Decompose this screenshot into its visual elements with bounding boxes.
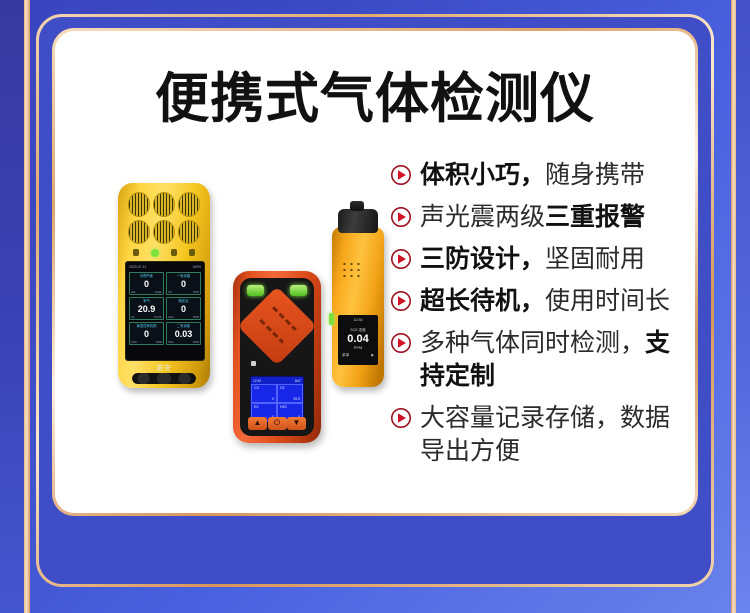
sensor-indicator-icon [251, 361, 256, 366]
feature-list: 体积小巧，随身携带 声光震两级三重报警 三防 [390, 159, 690, 477]
poster-root: 便携式气体检测仪 [0, 0, 750, 613]
gas-reading-cell: 二氧化硫 0.03 SO2 PPM [166, 322, 201, 345]
sensor-grille-icon [128, 220, 150, 245]
gas-symbol: LEL [131, 290, 136, 294]
sensor-grille-icon [128, 192, 150, 217]
diamond-sensor-vent-icon [240, 286, 314, 365]
circle-arrow-icon [390, 290, 412, 312]
list-item: 超长待机，使用时间长 [390, 285, 690, 318]
gas-symbol: VOC [131, 340, 137, 344]
list-item: 多种气体同时检测，支持定制 [390, 327, 690, 393]
gas-reading-cell: 硫化氢 0 H2S PPM [166, 297, 201, 320]
screen-time: 12:30 [338, 318, 378, 322]
right-gold-line [731, 0, 736, 613]
power-led-icon [151, 249, 159, 257]
right-alarm-led-icon [290, 285, 307, 296]
gas-value: 0 [167, 304, 200, 314]
status-battery: BAT [295, 379, 301, 383]
next-arrow-icon: ▶ [371, 353, 374, 358]
alarm-speaker-grille [132, 373, 196, 384]
screen-value: 0.04 [338, 333, 378, 345]
left-blue-band [0, 0, 24, 613]
down-button[interactable]: ▼ [287, 417, 306, 430]
sensor-grille-group [128, 192, 200, 244]
sensor-grille-icon [178, 220, 200, 245]
gas-name: CO [254, 386, 259, 390]
list-item-label: 体积小巧，随身携带 [420, 159, 645, 192]
gas-value: 20.9 [293, 397, 300, 401]
yellow-detector-screen: 2023-07-12 100% 可燃气体 0 LEL %LEL 一氧化碳 0 [125, 261, 205, 361]
orange-gas-detector: 12:30 SO2 浓度 0.04 PPM 菜单 ▶ [332, 227, 384, 387]
gas-unit: PPM [193, 315, 199, 319]
gas-symbol: SO2 [168, 340, 174, 344]
right-blue-band [736, 0, 750, 613]
indicator-led-row [127, 247, 201, 258]
red-detector-buttons: ▲ ⏻ ▼ [248, 416, 306, 430]
left-alarm-led-icon [247, 285, 264, 296]
list-item-label: 大容量记录存储，数据导出方便 [420, 402, 690, 468]
gas-reading-cell: 一氧化碳 0 CO PPM [166, 272, 201, 295]
screen-footer: 菜单 ▶ [338, 350, 378, 358]
status-battery: 100% [192, 265, 201, 269]
power-button[interactable]: ⏻ [268, 417, 287, 430]
sensor-grille-icon [153, 220, 175, 245]
up-button[interactable]: ▲ [248, 417, 267, 430]
circle-arrow-icon [390, 332, 412, 354]
list-item: 声光震两级三重报警 [390, 201, 690, 234]
orange-detector-screen: 12:30 SO2 浓度 0.04 PPM 菜单 ▶ [338, 315, 378, 365]
left-gold-line [24, 0, 30, 613]
list-item: 体积小巧，随身携带 [390, 159, 690, 192]
brand-logo: 诺安 [118, 363, 210, 373]
red-gas-detector: 12:30 BAT CO 0 O2 20.9 [233, 271, 321, 443]
list-item: 大容量记录存储，数据导出方便 [390, 402, 690, 468]
pump-led-icon [189, 249, 195, 256]
gas-value: 0 [130, 329, 163, 339]
circle-arrow-icon [390, 248, 412, 270]
status-time: 12:30 [253, 379, 261, 383]
sensor-cap-icon [338, 209, 378, 233]
gas-unit: PPM [156, 340, 162, 344]
gas-reading-cell: O2 20.9 [277, 384, 303, 403]
circle-arrow-icon [390, 164, 412, 186]
gas-reading-cell: 可燃气体 0 LEL %LEL [129, 272, 164, 295]
gas-reading-cell: 挥发性有机物 0 VOC PPM [129, 322, 164, 345]
gas-unit: PPM [193, 340, 199, 344]
gas-unit: PPM [193, 290, 199, 294]
gas-value: 0 [272, 397, 274, 401]
screen-status-bar: 2023-07-12 100% [126, 262, 204, 271]
gas-unit: %VOL [154, 315, 162, 319]
menu-label: 菜单 [342, 353, 349, 358]
gas-symbol: H2S [168, 315, 173, 319]
status-time: 2023-07-12 [129, 265, 146, 269]
red-detector-face: 12:30 BAT CO 0 O2 20.9 [240, 278, 314, 436]
gas-value: 20.9 [130, 304, 163, 314]
gas-reading-grid: 可燃气体 0 LEL %LEL 一氧化碳 0 CO PPM 氧气 [129, 272, 201, 345]
gas-name: O2 [280, 386, 285, 390]
gas-symbol: CO [168, 290, 172, 294]
side-alarm-led-icon [329, 313, 334, 325]
yellow-gas-detector: 2023-07-12 100% 可燃气体 0 LEL %LEL 一氧化碳 0 [118, 183, 210, 388]
gas-reading-cell: CO 0 [251, 384, 277, 403]
gas-name: EX [254, 405, 259, 409]
gas-symbol: O2 [131, 315, 135, 319]
list-item-label: 三防设计，坚固耐用 [420, 243, 645, 276]
product-images: 2023-07-12 100% 可燃气体 0 LEL %LEL 一氧化碳 0 [55, 31, 395, 519]
gas-unit: %LEL [155, 290, 162, 294]
gas-value: 0 [167, 279, 200, 289]
circle-arrow-icon [390, 407, 412, 429]
gas-value: 0.03 [167, 329, 200, 339]
charge-led-icon [133, 249, 139, 256]
gas-reading-cell: 氧气 20.9 O2 %VOL [129, 297, 164, 320]
circle-arrow-icon [390, 206, 412, 228]
list-item-label: 声光震两级三重报警 [420, 201, 645, 234]
list-item-label: 多种气体同时检测，支持定制 [420, 327, 690, 393]
sensor-holes-icon [341, 261, 363, 279]
sensor-grille-icon [153, 192, 175, 217]
alarm-led-icon [171, 249, 177, 256]
list-item: 三防设计，坚固耐用 [390, 243, 690, 276]
list-item-label: 超长待机，使用时间长 [420, 285, 670, 318]
sensor-grille-icon [178, 192, 200, 217]
screen-status-bar: 12:30 BAT [251, 377, 303, 384]
gas-name: H2S [280, 405, 287, 409]
content-panel: 便携式气体检测仪 [52, 28, 698, 516]
gas-value: 0 [130, 279, 163, 289]
